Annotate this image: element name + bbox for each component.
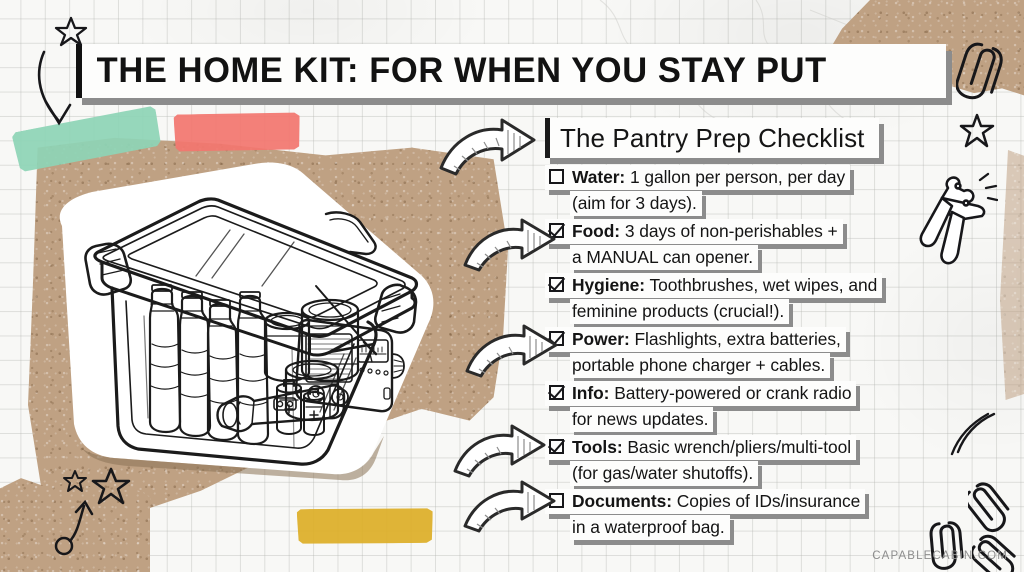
checklist-item-label: Water:: [572, 167, 625, 187]
checklist-item: Info: Battery-powered or crank radio for…: [545, 381, 945, 433]
checklist-item-line-1: Documents: Copies of IDs/insurance: [545, 489, 865, 514]
title-banner: THE HOME KIT: FOR WHEN YOU STAY PUT: [76, 44, 946, 98]
checkbox-water[interactable]: [549, 169, 564, 184]
checklist-item-line-1: Water: 1 gallon per person, per day: [545, 165, 850, 190]
checklist-item-text: Copies of IDs/insurance: [672, 491, 860, 511]
checklist-item-text: Battery-powered or crank radio: [609, 383, 851, 403]
site-watermark: CAPABLECABIN.COM: [872, 550, 1008, 562]
checklist-heading-text: The Pantry Prep Checklist: [560, 123, 865, 154]
checkbox-info[interactable]: [549, 385, 564, 400]
storage-bin-illustration: [44, 158, 444, 488]
checklist-item: Food: 3 days of non-perishables + a MANU…: [545, 219, 945, 271]
page-title: THE HOME KIT: FOR WHEN YOU STAY PUT: [76, 51, 827, 91]
sparkle-right-bottom: [944, 406, 1004, 460]
star-right: [958, 112, 996, 150]
checklist-item-text-cont: feminine products (crucial!).: [572, 300, 784, 322]
tape-strip-coral: [174, 111, 301, 152]
checklist-item-line-2: for news updates.: [570, 407, 713, 432]
checklist-item: Power: Flashlights, extra batteries, por…: [545, 327, 945, 379]
checkbox-power[interactable]: [549, 331, 564, 346]
checklist-item-text: Toothbrushes, wet wipes, and: [645, 275, 877, 295]
checklist-item-text-cont: a MANUAL can opener.: [572, 246, 753, 268]
block-arrow-4: [452, 424, 548, 482]
paperclip-bottom-right-1: [968, 478, 1010, 534]
checklist-item: Tools: Basic wrench/pliers/multi-tool (f…: [545, 435, 945, 487]
checklist-heading-accent-bar: [545, 118, 550, 158]
checklist-item-line-1: Info: Battery-powered or crank radio: [545, 381, 856, 406]
checklist-item-text: Basic wrench/pliers/multi-tool: [623, 437, 851, 457]
checklist-item-line-2: (aim for 3 days).: [570, 191, 702, 216]
checklist-item-line-2: a MANUAL can opener.: [570, 245, 758, 270]
checklist-item: Hygiene: Toothbrushes, wet wipes, and fe…: [545, 273, 945, 325]
checklist-item-line-2: in a waterproof bag.: [570, 515, 730, 540]
checklist-item-text-cont: portable phone charger + cables.: [572, 354, 825, 376]
checklist-item-line-1: Tools: Basic wrench/pliers/multi-tool: [545, 435, 856, 460]
checklist-item-line-1: Hygiene: Toothbrushes, wet wipes, and: [545, 273, 882, 298]
checklist-item-label: Documents:: [572, 491, 672, 511]
checklist-item-line-2: (for gas/water shutoffs).: [570, 461, 758, 486]
checkbox-food[interactable]: [549, 223, 564, 238]
checklist-item: Documents: Copies of IDs/insurance in a …: [545, 489, 945, 541]
checklist-item-text-cont: in a waterproof bag.: [572, 516, 725, 538]
tape-strip-yellow: [297, 507, 434, 545]
kraft-paper-sliver-right: [996, 150, 1024, 400]
checklist-item: Water: 1 gallon per person, per day (aim…: [545, 165, 945, 217]
checklist-item-label: Power:: [572, 329, 630, 349]
checklist-item-text: Flashlights, extra batteries,: [630, 329, 841, 349]
checklist-item-line-2: portable phone charger + cables.: [570, 353, 830, 378]
checklist-heading: The Pantry Prep Checklist: [545, 118, 879, 158]
checklist-item-text-cont: (aim for 3 days).: [572, 192, 697, 214]
checklist-item-label: Tools:: [572, 437, 623, 457]
block-arrow-5: [462, 480, 558, 536]
checklist-item-text-cont: (for gas/water shutoffs).: [572, 462, 753, 484]
checklist-item-text-cont: for news updates.: [572, 408, 708, 430]
star-small-top-left: [54, 14, 88, 48]
checklist-item-line-2: feminine products (crucial!).: [570, 299, 789, 324]
checklist-item-label: Info:: [572, 383, 609, 403]
checkbox-documents[interactable]: [549, 493, 564, 508]
checklist-item-label: Hygiene:: [572, 275, 645, 295]
pantry-prep-checklist: Water: 1 gallon per person, per day (aim…: [545, 165, 945, 543]
poster-canvas: THE HOME KIT: FOR WHEN YOU STAY PUT The …: [0, 0, 1024, 572]
checklist-item-line-1: Food: 3 days of non-perishables +: [545, 219, 843, 244]
checklist-item-line-1: Power: Flashlights, extra batteries,: [545, 327, 846, 352]
checklist-item-text: 3 days of non-perishables +: [620, 221, 838, 241]
checklist-item-label: Food:: [572, 221, 620, 241]
checkbox-hygiene[interactable]: [549, 277, 564, 292]
checklist-item-text: 1 gallon per person, per day: [625, 167, 845, 187]
checkbox-tools[interactable]: [549, 439, 564, 454]
